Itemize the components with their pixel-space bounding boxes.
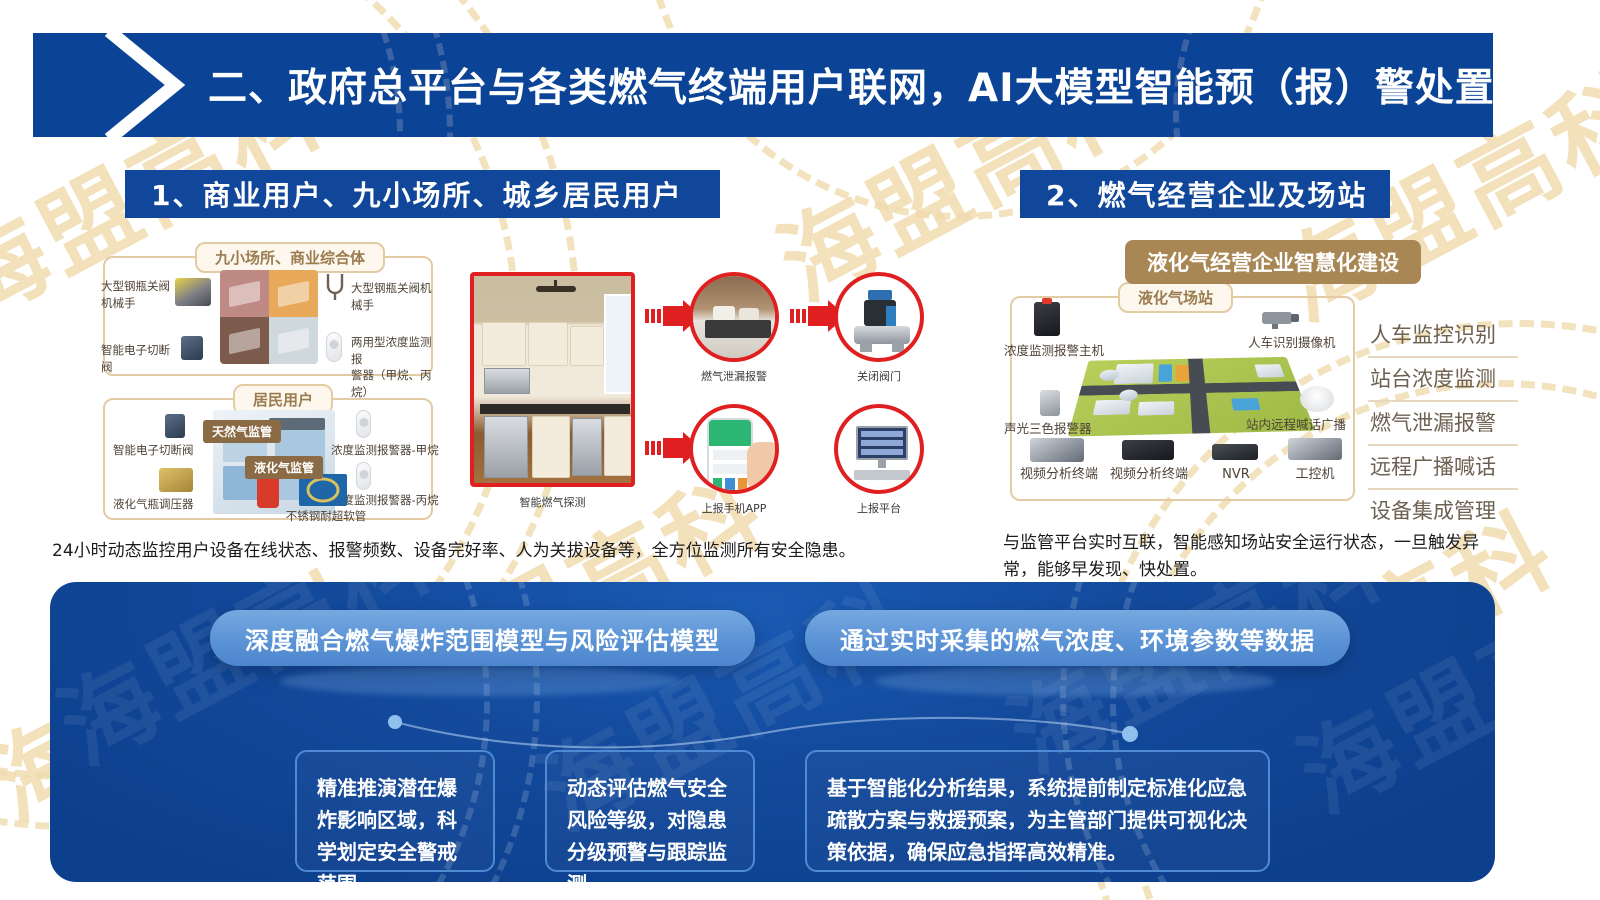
label-stainless-hose: 不锈钢耐超软管 [279, 508, 373, 525]
sound-light-alarm-icon [1040, 390, 1060, 416]
flow-label-platform: 上报平台 [828, 500, 930, 516]
left-panel-caption: 24小时动态监控用户设备在线状态、报警频数、设备完好率、人为关拔设备等，全方位监… [52, 538, 982, 565]
chevron-right-icon [103, 33, 213, 137]
robot-arm-device-icon [175, 278, 211, 306]
label-broadcast: 站内远程喊话广播 [1246, 416, 1358, 434]
label-sound-light-alarm: 声光三色报警器 [1004, 420, 1116, 438]
label-video-terminal-2: 视频分析终端 [1104, 466, 1194, 485]
feature-item: 远程广播喊话 [1368, 446, 1518, 490]
label-nvr: NVR [1204, 466, 1268, 485]
pill-shadow [875, 666, 1275, 696]
tag-natural-gas: 天然气监管 [203, 420, 281, 443]
lpg-enterprise-title: 液化气经营企业智慧化建设 [1125, 240, 1421, 284]
label-video-terminal-1: 视频分析终端 [1014, 466, 1104, 485]
label-camera: 人车识别摄像机 [1248, 334, 1356, 352]
alarm-host-icon [1034, 302, 1060, 336]
close-valve-image [834, 272, 924, 362]
bottom-card-1: 精准推演潜在爆炸影响区域，科学划定安全警戒范围 [295, 750, 495, 872]
commercial-venues-caption: 九小场所、商业综合体 [195, 242, 385, 273]
video-terminal-icon [1030, 438, 1084, 462]
feature-item: 站台浓度监测 [1368, 358, 1518, 402]
nvr-icon [1212, 444, 1258, 460]
page-title-bar: 二、政府总平台与各类燃气终端用户联网，AI大模型智能预（报）警处置 [33, 33, 1493, 137]
pill-shadow [280, 666, 680, 696]
bottom-card-3: 基于智能化分析结果，系统提前制定标准化应急疏散方案与救援预案，为主管部门提供可视… [805, 750, 1270, 872]
shutoff-valve-icon [181, 336, 203, 360]
model-pill-2: 通过实时采集的燃气浓度、环境参数等数据 [805, 610, 1350, 666]
tag-lpg: 液化气监管 [245, 456, 323, 479]
label-dual-gas-detector: 两用型浓度监测报 警器（甲烷、丙烷） [351, 334, 441, 401]
page-title: 二、政府总平台与各类燃气终端用户联网，AI大模型智能预（报）警处置 [208, 57, 1493, 113]
platform-image [834, 404, 924, 494]
dual-gas-detector-icon [326, 332, 342, 362]
lpg-station-caption: 液化气场站 [1118, 282, 1233, 313]
venue-illustration [220, 270, 318, 364]
label-methane-detector: 浓度监测报警器-甲烷 [331, 442, 441, 459]
model-pill-1: 深度融合燃气爆炸范围模型与风险评估模型 [210, 610, 755, 666]
label-robot-arm-right: 大型钢瓶关阀机械手 [351, 280, 441, 313]
smart-shutoff-valve-icon [165, 414, 185, 438]
feature-list: 人车监控识别 站台浓度监测 燃气泄漏报警 远程广播喊话 设备集成管理 [1368, 314, 1518, 532]
section-header-2: 2、燃气经营企业及场站 [1020, 170, 1390, 218]
propane-detector-icon [356, 462, 371, 490]
video-terminal-icon [1122, 440, 1174, 460]
label-shutoff-valve: 智能电子切断阀 [101, 342, 179, 375]
label-ipc: 工控机 [1282, 466, 1348, 485]
gas-leak-alarm-image [689, 272, 779, 362]
flow-label-close-valve: 关闭阀门 [824, 368, 934, 384]
label-alarm-host: 浓度监测报警主机 [1004, 342, 1116, 360]
right-panel-caption: 与监管平台实时互联，智能感知场站安全运行状态，一旦触发异常，能够早发现、快处置。 [1003, 530, 1508, 584]
industrial-pc-icon [1288, 438, 1342, 460]
feature-item: 燃气泄漏报警 [1368, 402, 1518, 446]
mobile-app-image [689, 404, 779, 494]
flow-label-gas-leak: 燃气泄漏报警 [674, 368, 794, 384]
feature-item: 设备集成管理 [1368, 490, 1518, 532]
bottom-panel: 海盟高科 海盟高科 海盟高科 海盟高科 深度融合燃气爆炸范围模型与风险评估模型 … [50, 582, 1495, 882]
kitchen-photo [470, 272, 635, 487]
label-lpg-regulator: 液化气瓶调压器 [113, 496, 209, 513]
flow-label-app: 上报手机APP [678, 500, 790, 516]
broadcast-speaker-icon [1300, 386, 1334, 412]
bottom-card-2: 动态评估燃气安全风险等级，对隐患分级预警与跟踪监测 [545, 750, 755, 872]
gripper-arm-icon [324, 272, 346, 302]
label-smart-shutoff-valve: 智能电子切断阀 [113, 442, 205, 459]
flow-label-detection: 智能燃气探测 [470, 494, 635, 510]
methane-detector-icon [356, 410, 371, 438]
feature-item: 人车监控识别 [1368, 314, 1518, 358]
label-propane-detector: 浓度监测报警器-丙烷 [331, 492, 443, 509]
camera-icon [1258, 306, 1302, 330]
lpg-regulator-icon [159, 468, 193, 492]
section-header-1: 1、商业用户、九小场所、城乡居民用户 [125, 170, 720, 218]
label-robot-arm-left: 大型钢瓶关阀 机械手 [101, 278, 173, 311]
